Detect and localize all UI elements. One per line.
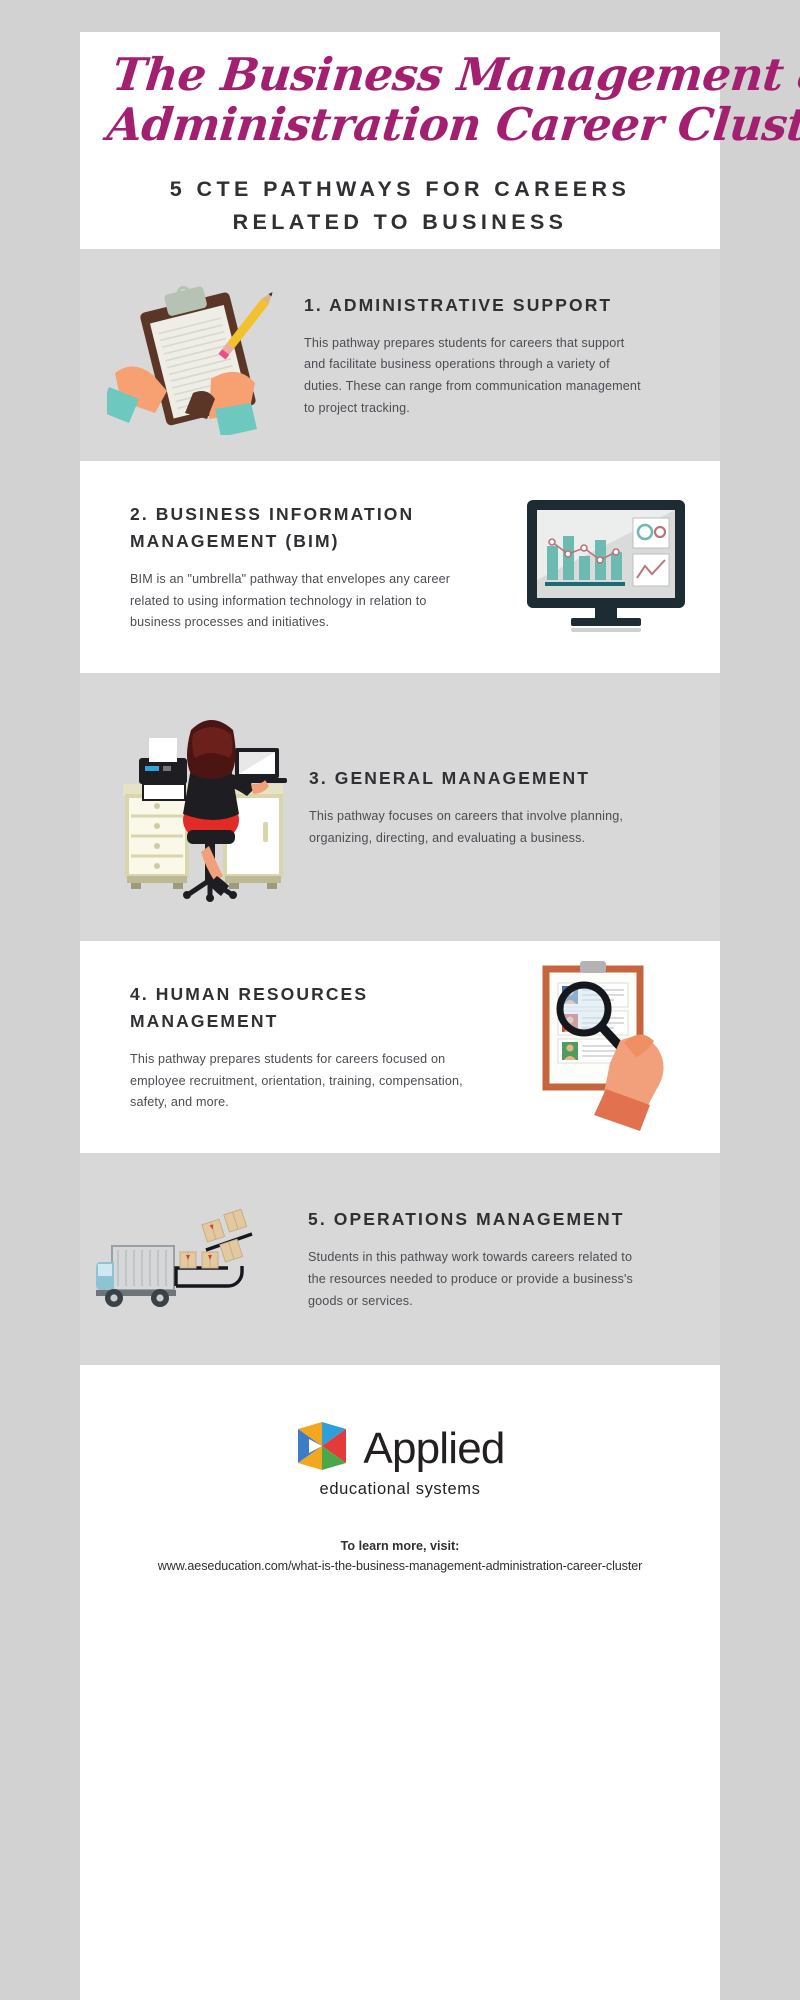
pathway-body-5: Students in this pathway work towards ca… xyxy=(308,1247,653,1312)
pathway-text-4: 4. HUMAN RESOURCES MANAGEMENT This pathw… xyxy=(130,981,518,1114)
pathway-text-2: 2. BUSINESS INFORMATION MANAGEMENT (BIM)… xyxy=(130,501,513,634)
header: The Business Management & Administration… xyxy=(80,32,720,249)
desktop-monitor-charts-illustration xyxy=(513,492,698,642)
top-strip xyxy=(80,0,720,32)
learn-more-label: To learn more, visit: xyxy=(110,1539,690,1553)
bottom-padding xyxy=(80,1599,720,1639)
logo-row: Applied xyxy=(110,1419,690,1478)
infographic-page: The Business Management & Administration… xyxy=(80,0,720,2000)
office-worker-desk-illustration xyxy=(110,712,295,902)
pathway-body-2: BIM is an "umbrella" pathway that envelo… xyxy=(130,569,475,634)
title-line-2: Administration Career Cluster xyxy=(105,100,690,150)
pathway-heading-2: 2. BUSINESS INFORMATION MANAGEMENT (BIM) xyxy=(130,501,460,555)
pathway-section-5: 5. OPERATIONS MANAGEMENT Students in thi… xyxy=(80,1153,720,1365)
pathway-section-3: 3. GENERAL MANAGEMENT This pathway focus… xyxy=(80,673,720,941)
clipboard-magnifier-resumes-illustration xyxy=(518,957,698,1137)
footer-url[interactable]: www.aeseducation.com/what-is-the-busines… xyxy=(110,1559,690,1573)
logo-wordmark: Applied xyxy=(363,1424,504,1474)
logo-tagline: educational systems xyxy=(110,1480,690,1499)
pathway-section-1: 1. ADMINISTRATIVE SUPPORT This pathway p… xyxy=(80,249,720,461)
pathway-section-2: 2. BUSINESS INFORMATION MANAGEMENT (BIM)… xyxy=(80,461,720,673)
footer: Applied educational systems To learn mor… xyxy=(80,1365,720,1599)
pathway-text-3: 3. GENERAL MANAGEMENT This pathway focus… xyxy=(295,765,678,849)
page-title: The Business Management & Administration… xyxy=(105,50,696,151)
subtitle-line-1: 5 CTE PATHWAYS FOR CAREERS xyxy=(110,173,690,206)
pathway-heading-4: 4. HUMAN RESOURCES MANAGEMENT xyxy=(130,981,508,1035)
title-line-1: The Business Management & xyxy=(110,50,695,100)
pathway-heading-5: 5. OPERATIONS MANAGEMENT xyxy=(308,1206,678,1233)
pathway-body-3: This pathway focuses on careers that inv… xyxy=(309,806,654,849)
clipboard-hands-illustration xyxy=(102,275,292,435)
aes-diamond-logo-icon xyxy=(295,1419,349,1478)
pathway-body-4: This pathway prepares students for caree… xyxy=(130,1049,475,1114)
pathway-heading-3: 3. GENERAL MANAGEMENT xyxy=(309,765,678,792)
truck-conveyor-boxes-illustration xyxy=(94,1194,294,1324)
page-subtitle: 5 CTE PATHWAYS FOR CAREERS RELATED TO BU… xyxy=(110,173,690,240)
pathway-text-1: 1. ADMINISTRATIVE SUPPORT This pathway p… xyxy=(292,292,678,420)
pathway-heading-1: 1. ADMINISTRATIVE SUPPORT xyxy=(304,292,678,319)
subtitle-line-2: RELATED TO BUSINESS xyxy=(110,206,690,239)
pathway-text-5: 5. OPERATIONS MANAGEMENT Students in thi… xyxy=(294,1206,678,1312)
pathway-body-1: This pathway prepares students for caree… xyxy=(304,333,649,420)
pathway-section-4: 4. HUMAN RESOURCES MANAGEMENT This pathw… xyxy=(80,941,720,1153)
